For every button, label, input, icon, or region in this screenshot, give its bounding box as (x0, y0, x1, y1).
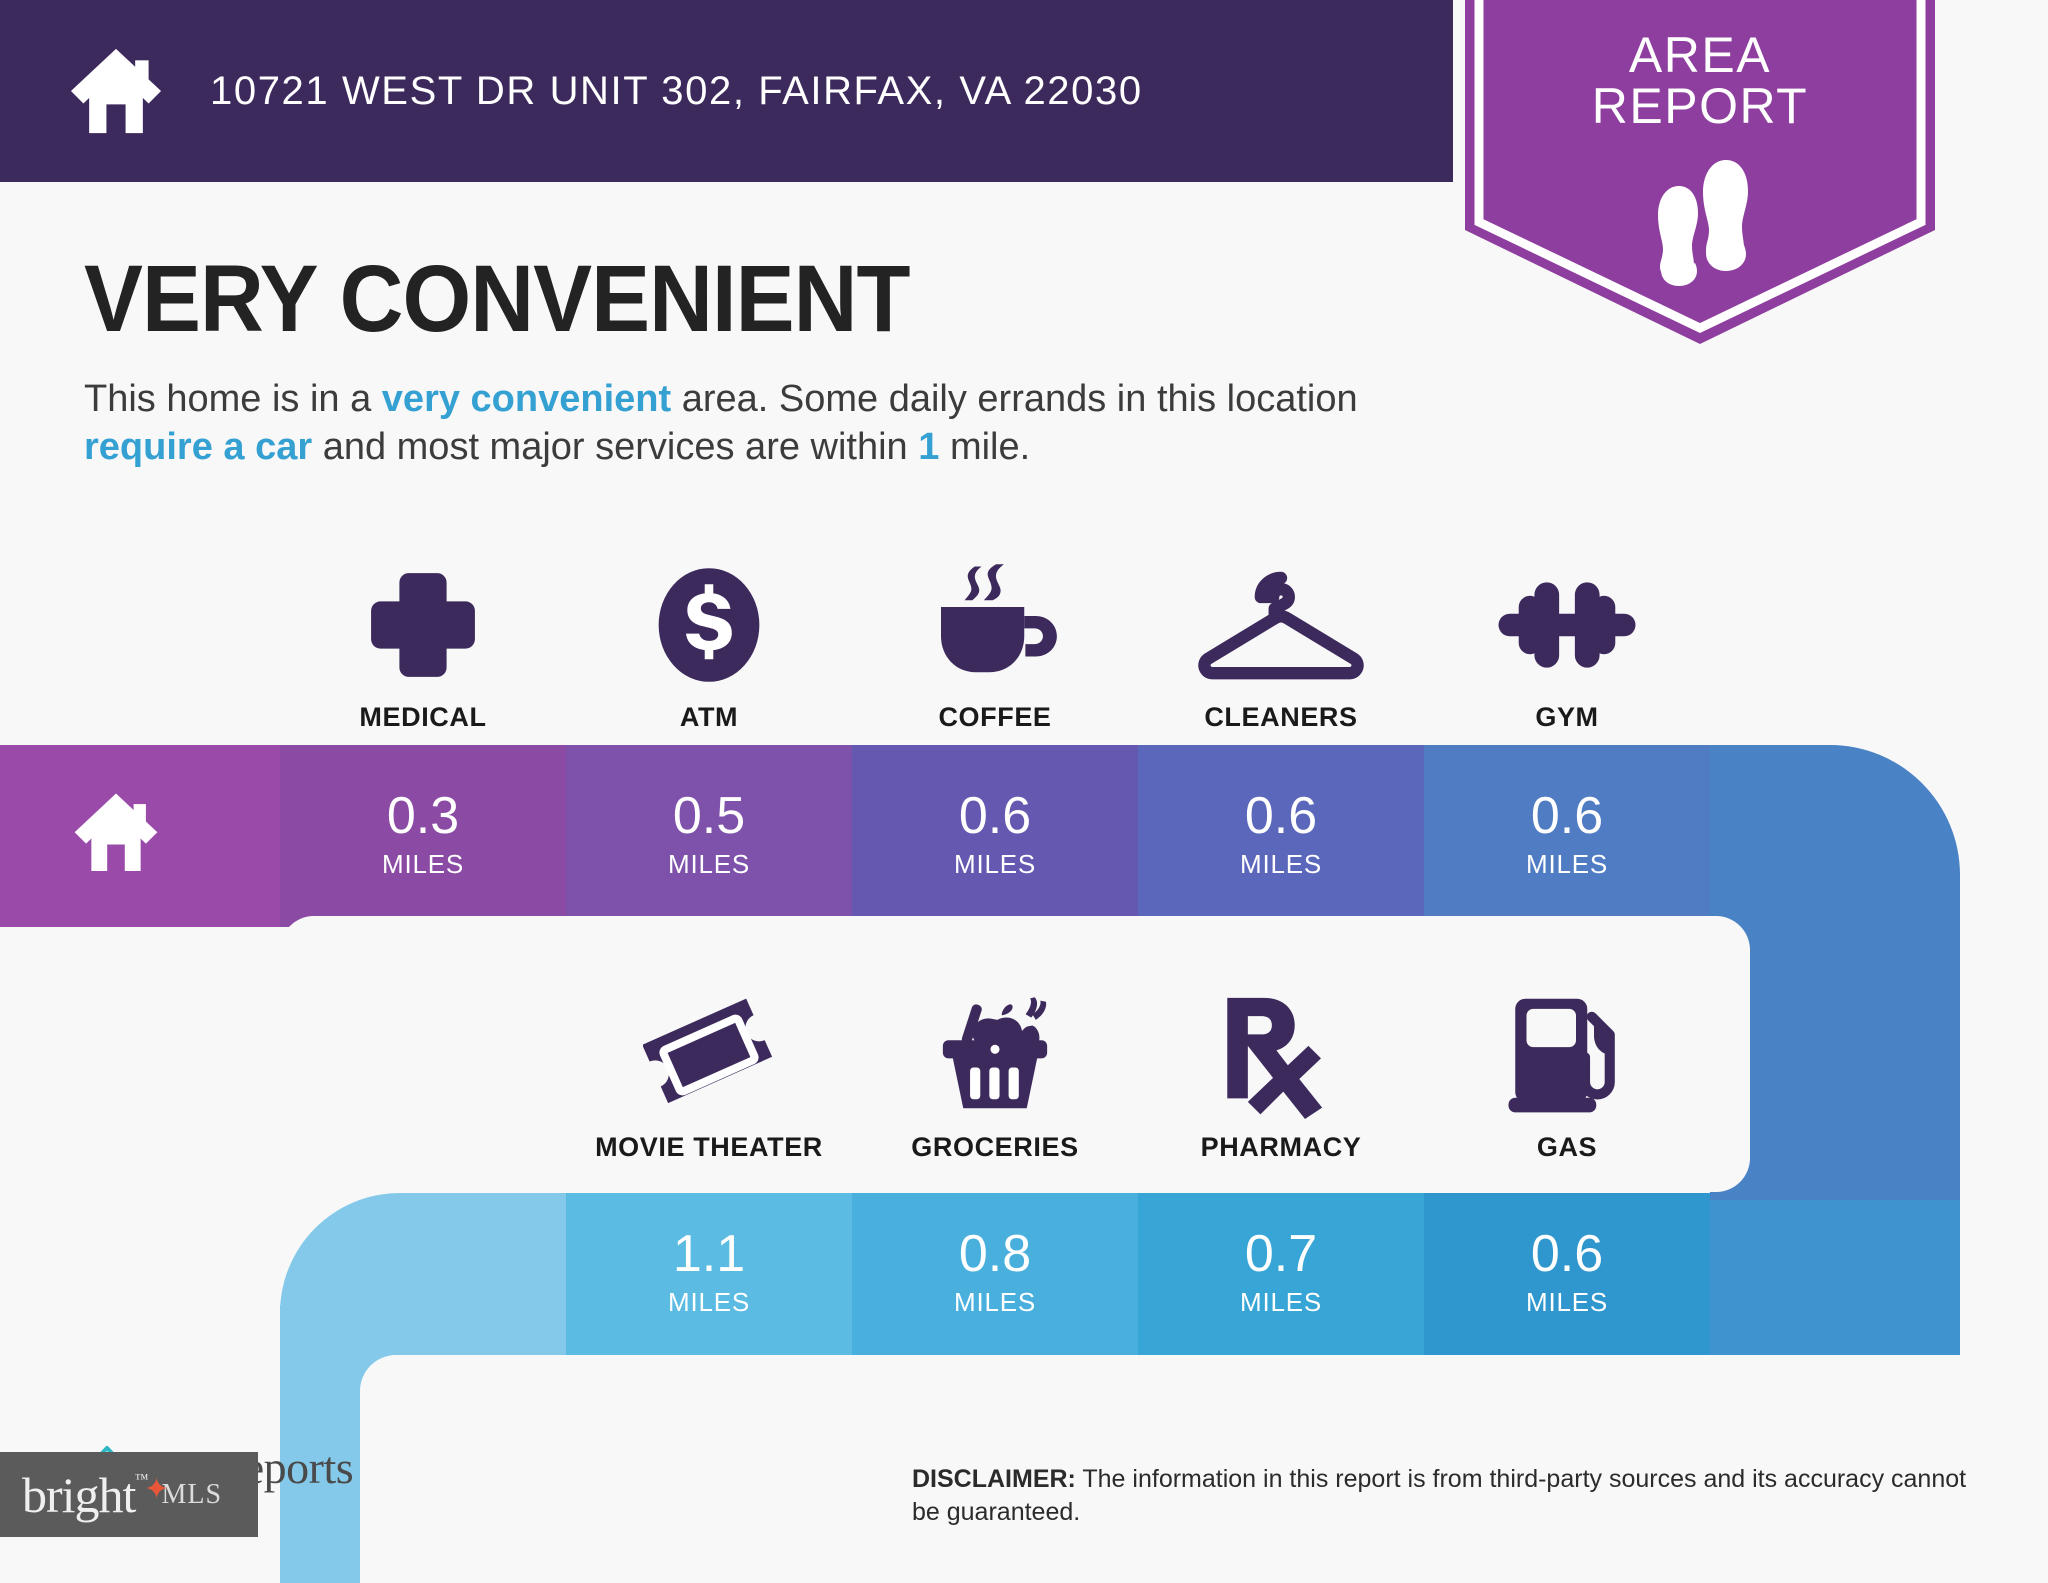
description-highlight-3: require a car (84, 426, 312, 468)
amenity-label: MEDICAL (280, 702, 566, 733)
amenity-groceries: GROCERIES (852, 990, 1138, 1163)
coat-hanger-icon (1138, 560, 1424, 690)
medical-cross-icon (280, 560, 566, 690)
amenity-atm: ATM (566, 560, 852, 733)
description-text-2: area. Some daily errands in this locatio… (671, 378, 1357, 420)
bar-seg-atm (566, 745, 852, 927)
bar-seg-pharmacy (1138, 1193, 1424, 1375)
gas-pump-icon (1424, 990, 1710, 1120)
dollar-circle-icon (566, 560, 852, 690)
description-text-0: This home is in a (84, 378, 382, 420)
area-report-page: 10721 WEST DR UNIT 302, FAIRFAX, VA 2203… (0, 0, 2048, 1583)
bright-mls-watermark: bright ✦ ™ MLS (0, 1452, 258, 1537)
trademark-symbol: ™ (135, 1472, 148, 1488)
bar-seg-gas (1424, 1193, 1710, 1375)
area-report-badge: AREA REPORT (1465, 0, 1935, 344)
page-title: VERY CONVENIENT (84, 245, 910, 354)
amenity-label: COFFEE (852, 702, 1138, 733)
description-highlight-5: 1 (918, 426, 939, 468)
amenity-label: GYM (1424, 702, 1710, 733)
amenity-label: GROCERIES (852, 1132, 1138, 1163)
amenity-label: GAS (1424, 1132, 1710, 1163)
description-paragraph: This home is in a very convenient area. … (84, 376, 1454, 472)
coffee-cup-icon (852, 560, 1138, 690)
bright-wordmark: bright ✦ ™ (22, 1466, 135, 1524)
home-icon (68, 45, 164, 137)
disclaimer-label: DISCLAIMER: (912, 1465, 1076, 1493)
rx-icon (1138, 990, 1424, 1120)
ticket-icon (566, 990, 852, 1120)
bar-seg-coffee (852, 745, 1138, 927)
amenity-gas: GAS (1424, 990, 1710, 1163)
amenity-label: PHARMACY (1138, 1132, 1424, 1163)
description-text-6: mile. (939, 426, 1030, 468)
amenity-cleaners: CLEANERS (1138, 560, 1424, 733)
amenity-label: ATM (566, 702, 852, 733)
description-highlight-1: very convenient (382, 378, 671, 420)
bright-star-icon: ✦ (144, 1472, 168, 1507)
amenity-movie-theater: MOVIE THEATER (566, 990, 852, 1163)
description-text-4: and most major services are within (312, 426, 918, 468)
bar-seg-groceries (852, 1193, 1138, 1375)
amenity-coffee: COFFEE (852, 560, 1138, 733)
amenity-medical: MEDICAL (280, 560, 566, 733)
home-marker-icon (72, 790, 160, 872)
bar-seg-movie (566, 1193, 852, 1375)
header-bar: 10721 WEST DR UNIT 302, FAIRFAX, VA 2203… (0, 0, 1453, 182)
bar-seg-medical (280, 745, 566, 927)
mls-suffix: MLS (161, 1479, 222, 1511)
amenity-label: CLEANERS (1138, 702, 1424, 733)
amenity-label: MOVIE THEATER (566, 1132, 852, 1163)
amenity-pharmacy: PHARMACY (1138, 990, 1424, 1163)
amenity-gym: GYM (1424, 560, 1710, 733)
bar-seg-cleaners (1138, 745, 1424, 927)
property-address: 10721 WEST DR UNIT 302, FAIRFAX, VA 2203… (210, 69, 1143, 114)
disclaimer-text: DISCLAIMER: The information in this repo… (912, 1463, 1982, 1529)
grocery-basket-icon (852, 990, 1138, 1120)
bar-seg-gym (1424, 745, 1710, 927)
dumbbell-icon (1424, 560, 1710, 690)
